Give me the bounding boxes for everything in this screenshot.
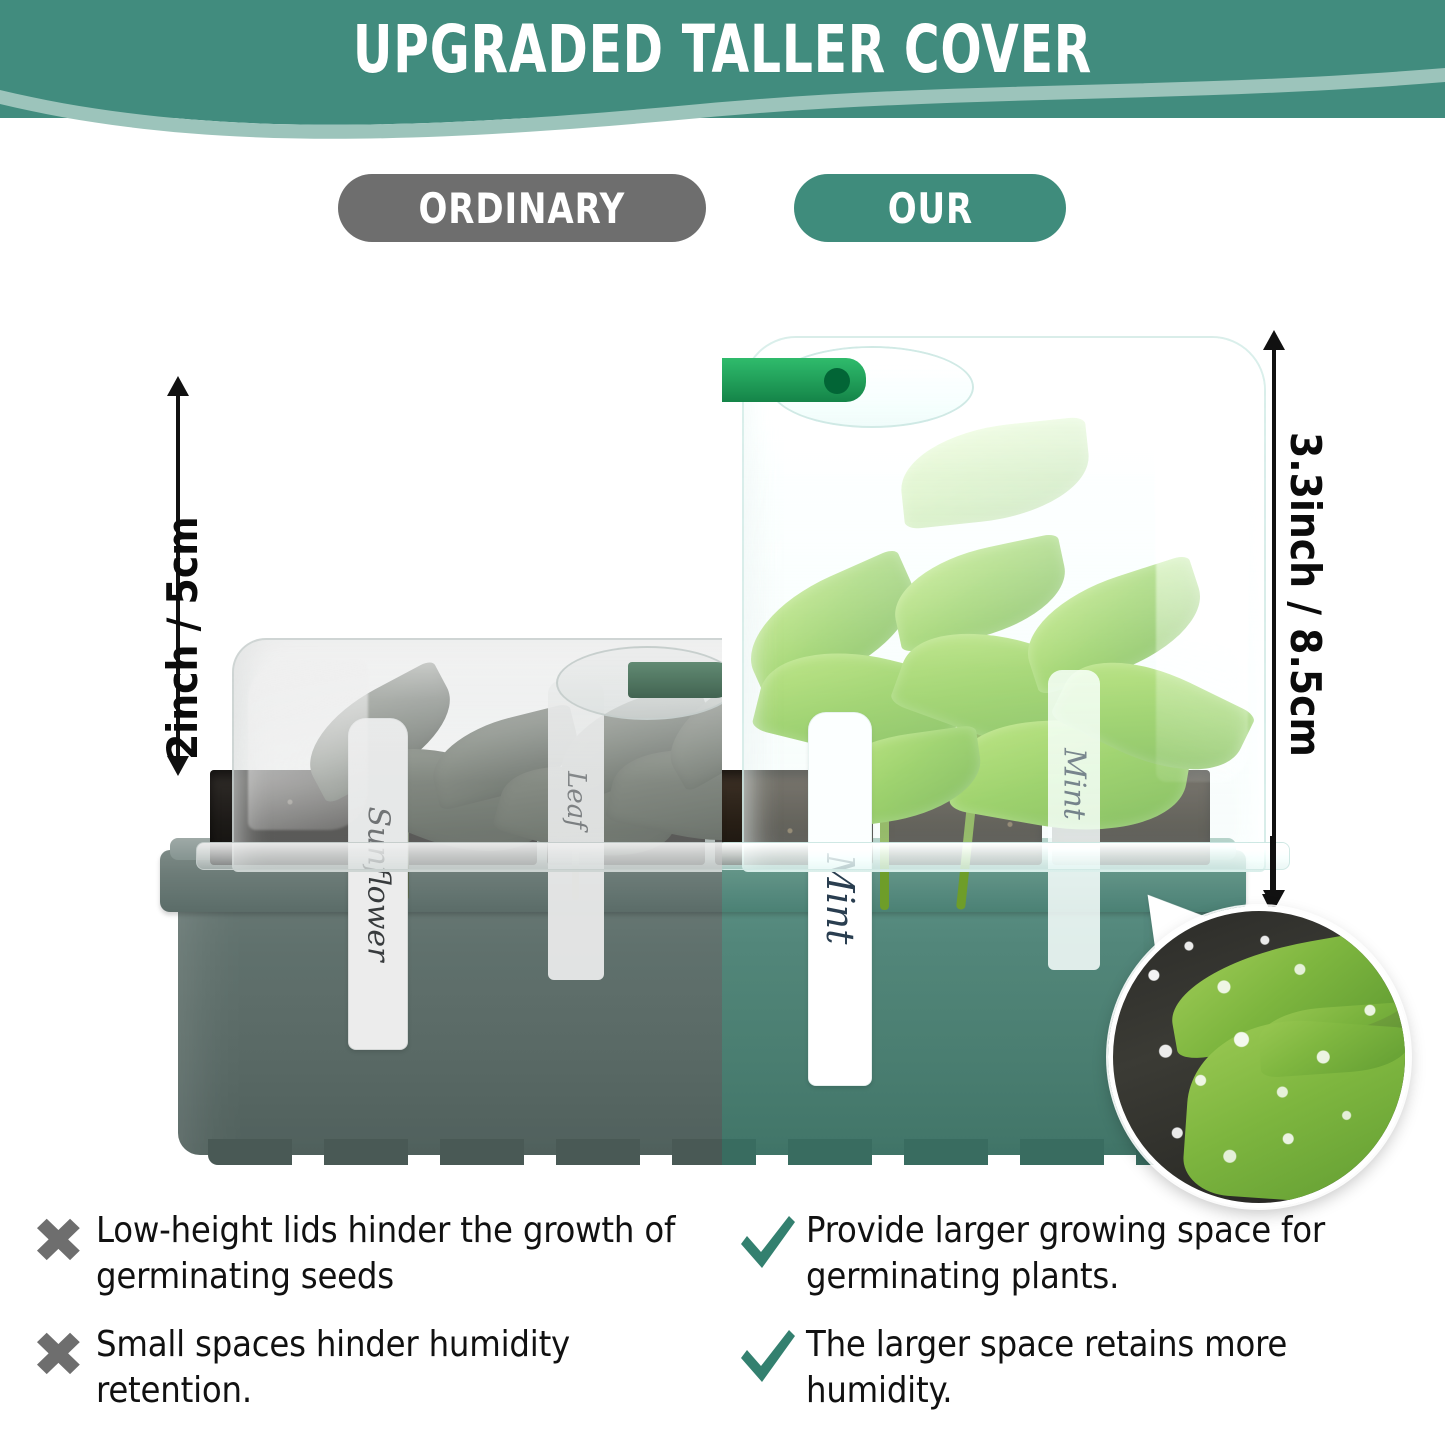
benefits-comparison-lists: ✖ Low-height lids hinder the growth of g… <box>0 1200 1445 1429</box>
tray-base <box>178 880 722 1155</box>
badge-our: OUR <box>794 174 1066 242</box>
x-icon: ✖ <box>20 1322 96 1382</box>
pros-text: The larger space retains more humidity. <box>806 1322 1418 1414</box>
check-icon <box>730 1322 806 1386</box>
cons-text: Low-height lids hinder the growth of ger… <box>96 1208 708 1300</box>
vent-slider <box>628 662 722 698</box>
magnifier-inset-condensation <box>1108 906 1410 1208</box>
list-item: Provide larger growing space for germina… <box>730 1208 1430 1300</box>
badge-our-label: OUR <box>887 184 972 233</box>
page-title: UPGRADED TALLER COVER <box>130 6 1315 92</box>
measurement-ordinary-label: 2inch / 5cm <box>158 516 207 760</box>
dome-highlight <box>248 660 368 830</box>
pros-text: Provide larger growing space for germina… <box>806 1208 1418 1300</box>
scene-ordinary: Leaf Sunflower <box>0 250 722 1200</box>
list-item: The larger space retains more humidity. <box>730 1322 1430 1414</box>
dome-highlight <box>1156 362 1248 782</box>
photo-half-ordinary: Leaf Sunflower <box>0 250 722 1200</box>
water-droplets <box>1113 911 1405 1203</box>
cons-text: Small spaces hinder humidity retention. <box>96 1322 708 1414</box>
measurement-our-label: 3.3inch / 8.5cm <box>1281 432 1330 757</box>
badge-ordinary-label: ORDINARY <box>419 184 626 233</box>
dome-rim <box>196 842 722 870</box>
arrow-shaft <box>1272 346 1276 894</box>
badge-ordinary: ORDINARY <box>338 174 706 242</box>
check-icon-glyph <box>737 1214 799 1272</box>
vent-slider <box>722 358 866 402</box>
x-icon: ✖ <box>20 1208 96 1268</box>
check-icon <box>730 1208 806 1272</box>
dome-rim <box>722 842 1290 870</box>
list-item: ✖ Low-height lids hinder the growth of g… <box>20 1208 720 1300</box>
list-item: ✖ Small spaces hinder humidity retention… <box>20 1322 720 1414</box>
header-banner: UPGRADED TALLER COVER <box>0 0 1445 160</box>
check-icon-glyph <box>737 1328 799 1386</box>
